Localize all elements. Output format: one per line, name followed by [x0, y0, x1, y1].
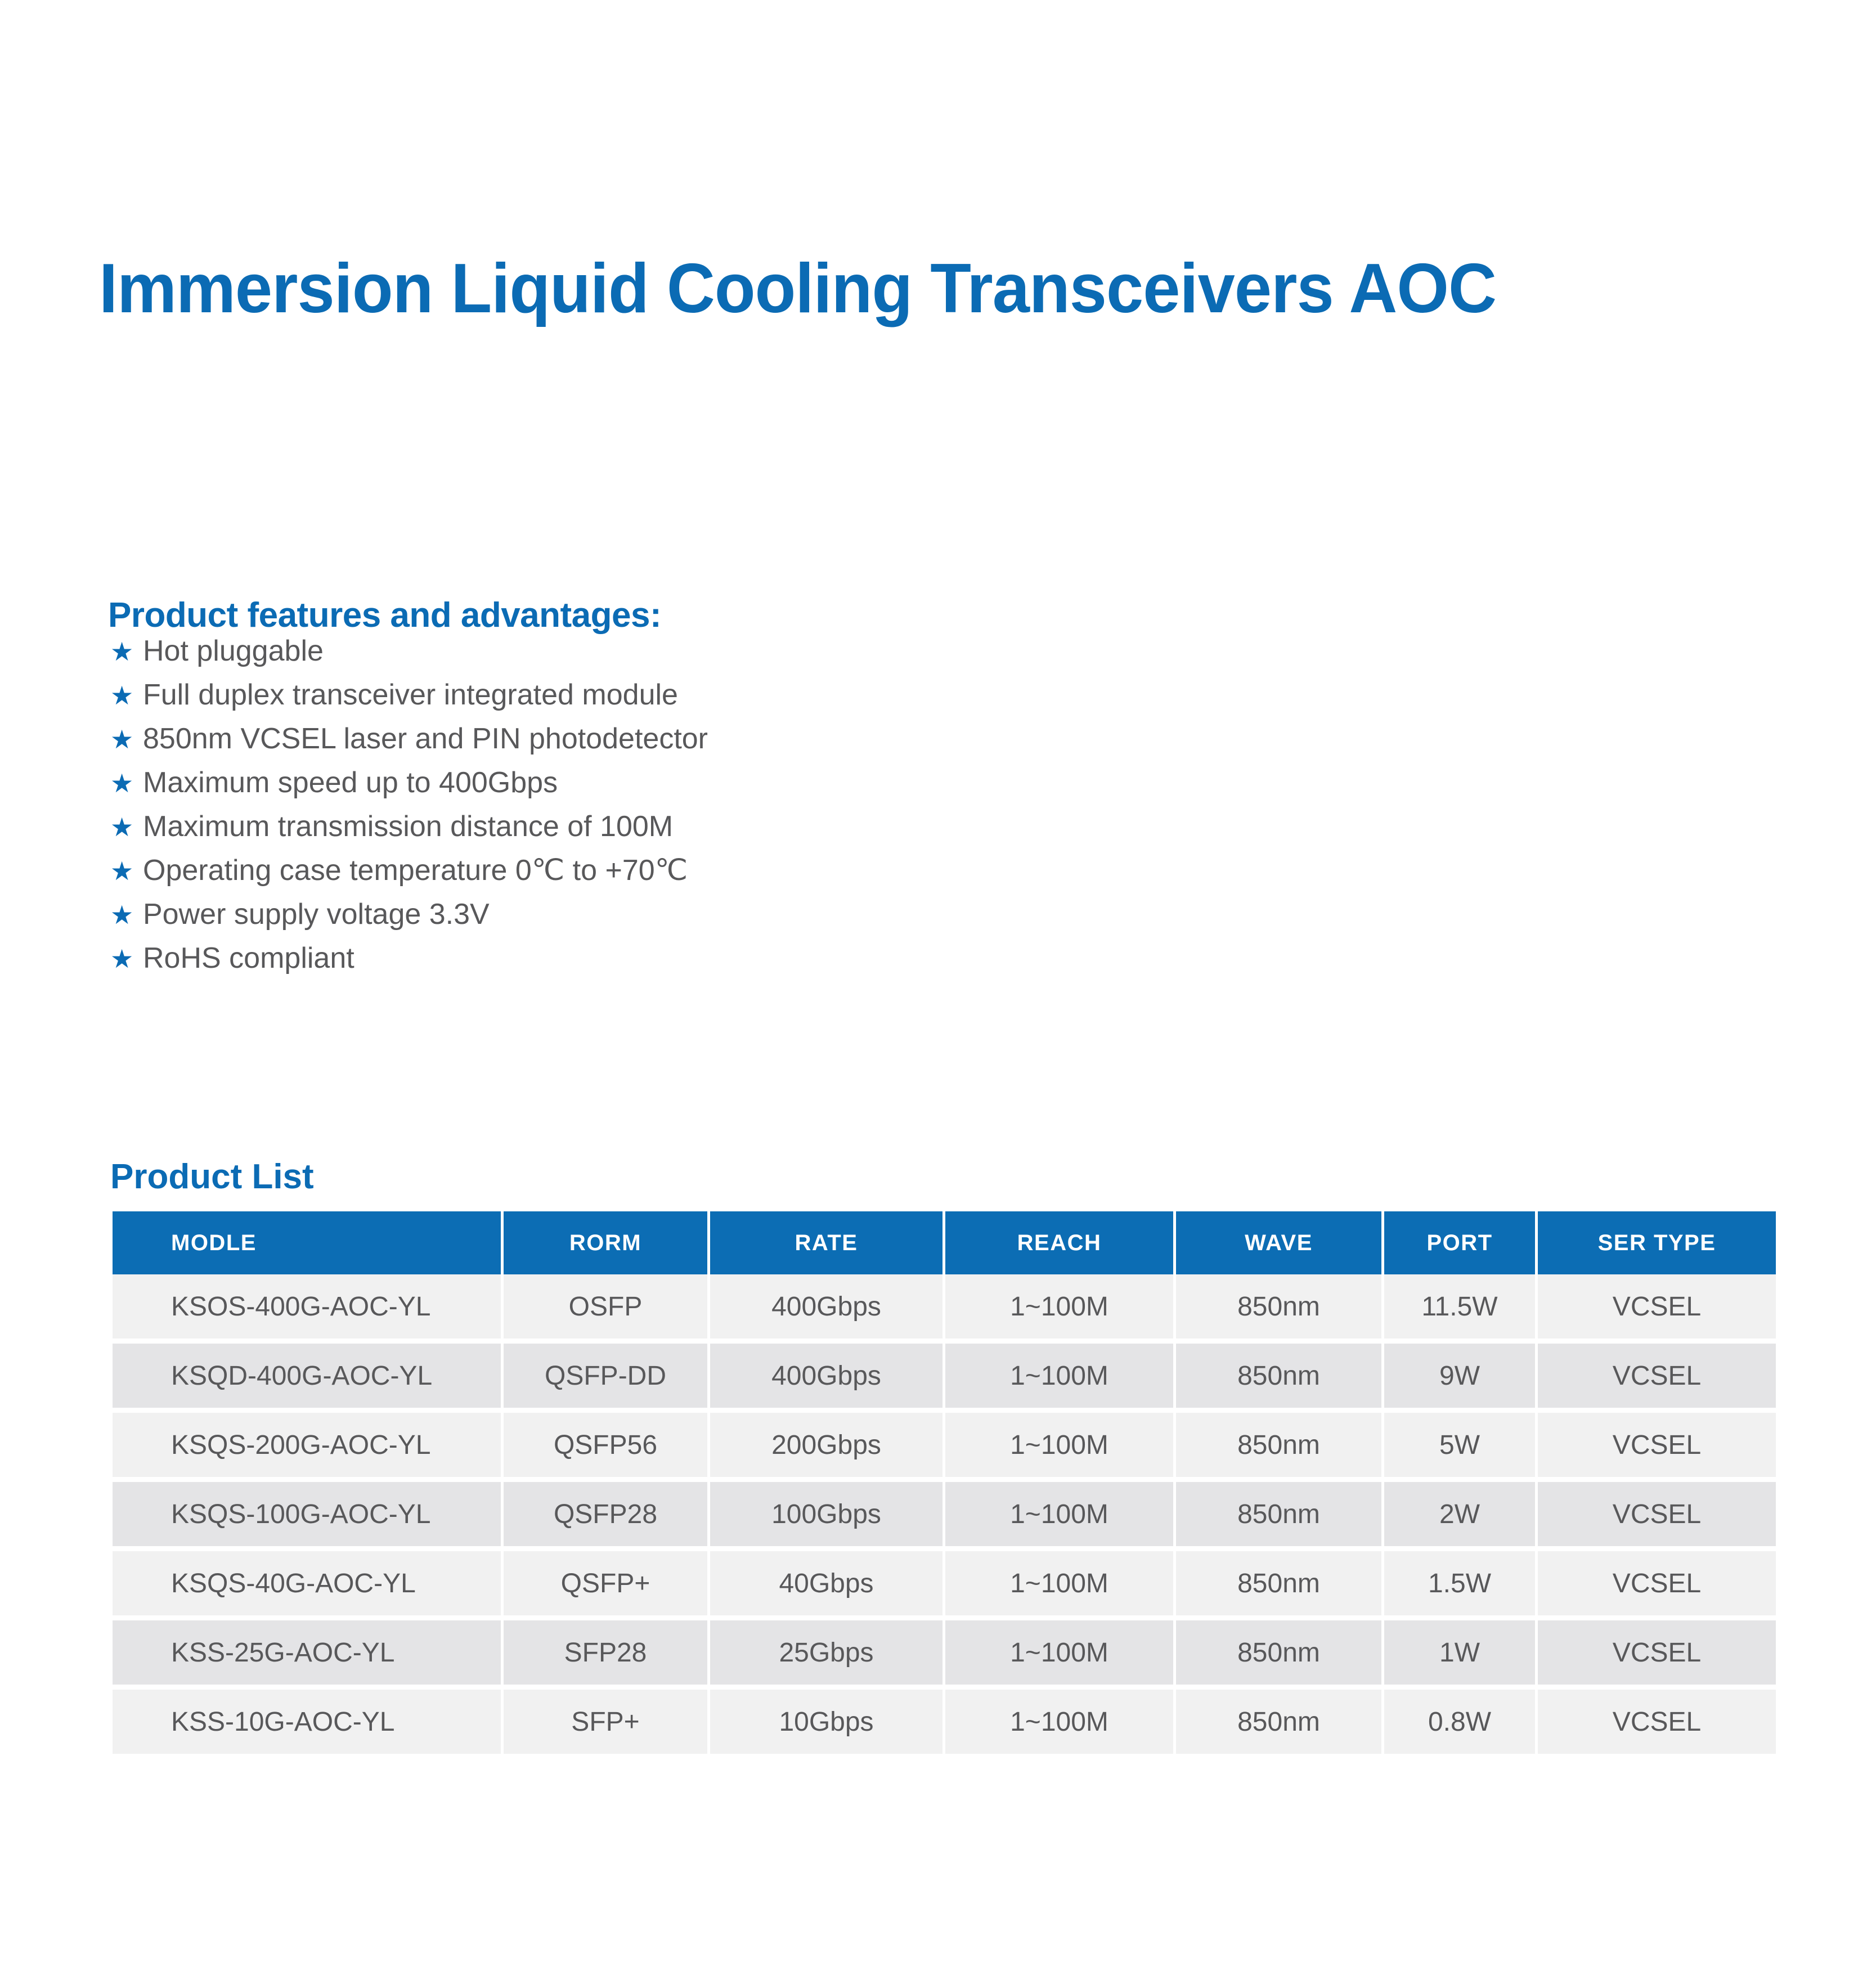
- cell-reach: 1~100M: [945, 1551, 1176, 1620]
- table-header-row: MODLE RORM RATE REACH WAVE PORT SER TYPE: [113, 1211, 1776, 1274]
- table-row: KSQD-400G-AOC-YLQSFP-DD400Gbps1~100M850n…: [113, 1344, 1776, 1413]
- page-root: Immersion Liquid Cooling Transceivers AO…: [0, 0, 1876, 1967]
- cell-reach: 1~100M: [945, 1274, 1176, 1344]
- cell-rate: 10Gbps: [710, 1690, 945, 1754]
- cell-rorm: SFP28: [504, 1620, 710, 1690]
- cell-reach: 1~100M: [945, 1344, 1176, 1413]
- feature-item: ★Maximum speed up to 400Gbps: [110, 761, 1348, 805]
- cell-rorm: OSFP: [504, 1274, 710, 1344]
- cell-wave: 850nm: [1176, 1482, 1384, 1551]
- star-icon: ★: [110, 937, 143, 981]
- star-icon: ★: [110, 717, 143, 761]
- cell-wave: 850nm: [1176, 1274, 1384, 1344]
- cell-wave: 850nm: [1176, 1551, 1384, 1620]
- star-icon: ★: [110, 849, 143, 893]
- cell-port: 9W: [1384, 1344, 1538, 1413]
- feature-item-label: Full duplex transceiver integrated modul…: [143, 673, 678, 717]
- cell-port: 2W: [1384, 1482, 1538, 1551]
- feature-item-label: Hot pluggable: [143, 629, 324, 673]
- table-row: KSS-25G-AOC-YLSFP2825Gbps1~100M850nm1WVC…: [113, 1620, 1776, 1690]
- cell-rorm: QSFP56: [504, 1413, 710, 1482]
- cell-modle: KSQS-40G-AOC-YL: [113, 1551, 504, 1620]
- cell-reach: 1~100M: [945, 1690, 1176, 1754]
- star-icon: ★: [110, 630, 143, 673]
- cell-modle: KSQD-400G-AOC-YL: [113, 1344, 504, 1413]
- feature-item-label: Operating case temperature 0℃ to +70℃: [143, 848, 688, 892]
- star-icon: ★: [110, 673, 143, 717]
- cell-port: 1.5W: [1384, 1551, 1538, 1620]
- cell-ser-type: VCSEL: [1538, 1344, 1776, 1413]
- cell-ser-type: VCSEL: [1538, 1551, 1776, 1620]
- cell-ser-type: VCSEL: [1538, 1482, 1776, 1551]
- feature-item: ★850nm VCSEL laser and PIN photodetector: [110, 717, 1348, 761]
- cell-modle: KSQS-200G-AOC-YL: [113, 1413, 504, 1482]
- features-list: ★Hot pluggable★Full duplex transceiver i…: [110, 629, 1348, 980]
- cell-port: 11.5W: [1384, 1274, 1538, 1344]
- column-header-port: PORT: [1384, 1211, 1538, 1274]
- cell-modle: KSS-10G-AOC-YL: [113, 1690, 504, 1754]
- cell-port: 1W: [1384, 1620, 1538, 1690]
- table-row: KSQS-200G-AOC-YLQSFP56200Gbps1~100M850nm…: [113, 1413, 1776, 1482]
- cell-rate: 400Gbps: [710, 1274, 945, 1344]
- table-row: KSS-10G-AOC-YLSFP+10Gbps1~100M850nm0.8WV…: [113, 1690, 1776, 1754]
- product-table: MODLE RORM RATE REACH WAVE PORT SER TYPE…: [113, 1211, 1776, 1754]
- column-header-rorm: RORM: [504, 1211, 710, 1274]
- cell-rorm: QSFP+: [504, 1551, 710, 1620]
- table-row: KSQS-100G-AOC-YLQSFP28100Gbps1~100M850nm…: [113, 1482, 1776, 1551]
- column-header-modle: MODLE: [113, 1211, 504, 1274]
- cell-ser-type: VCSEL: [1538, 1690, 1776, 1754]
- star-icon: ★: [110, 893, 143, 937]
- feature-item-label: Power supply voltage 3.3V: [143, 892, 490, 936]
- feature-item: ★Power supply voltage 3.3V: [110, 892, 1348, 936]
- star-icon: ★: [110, 805, 143, 849]
- cell-rate: 40Gbps: [710, 1551, 945, 1620]
- product-table-head: MODLE RORM RATE REACH WAVE PORT SER TYPE: [113, 1211, 1776, 1274]
- cell-wave: 850nm: [1176, 1344, 1384, 1413]
- feature-item-label: RoHS compliant: [143, 936, 354, 980]
- column-header-wave: WAVE: [1176, 1211, 1384, 1274]
- cell-wave: 850nm: [1176, 1413, 1384, 1482]
- cell-port: 0.8W: [1384, 1690, 1538, 1754]
- cell-port: 5W: [1384, 1413, 1538, 1482]
- table-row: KSQS-40G-AOC-YLQSFP+40Gbps1~100M850nm1.5…: [113, 1551, 1776, 1620]
- cell-ser-type: VCSEL: [1538, 1620, 1776, 1690]
- feature-item: ★Full duplex transceiver integrated modu…: [110, 673, 1348, 717]
- feature-item-label: Maximum speed up to 400Gbps: [143, 761, 558, 805]
- cell-rate: 100Gbps: [710, 1482, 945, 1551]
- cell-rate: 200Gbps: [710, 1413, 945, 1482]
- cell-ser-type: VCSEL: [1538, 1413, 1776, 1482]
- cell-modle: KSOS-400G-AOC-YL: [113, 1274, 504, 1344]
- column-header-ser-type: SER TYPE: [1538, 1211, 1776, 1274]
- table-row: KSOS-400G-AOC-YLOSFP400Gbps1~100M850nm11…: [113, 1274, 1776, 1344]
- page-title: Immersion Liquid Cooling Transceivers AO…: [99, 254, 1720, 324]
- cell-ser-type: VCSEL: [1538, 1274, 1776, 1344]
- cell-rate: 400Gbps: [710, 1344, 945, 1413]
- cell-reach: 1~100M: [945, 1482, 1176, 1551]
- feature-item-label: Maximum transmission distance of 100M: [143, 805, 673, 848]
- cell-reach: 1~100M: [945, 1413, 1176, 1482]
- product-table-wrapper: MODLE RORM RATE REACH WAVE PORT SER TYPE…: [113, 1211, 1776, 1754]
- cell-rorm: QSFP28: [504, 1482, 710, 1551]
- product-table-body: KSOS-400G-AOC-YLOSFP400Gbps1~100M850nm11…: [113, 1274, 1776, 1754]
- cell-wave: 850nm: [1176, 1620, 1384, 1690]
- cell-wave: 850nm: [1176, 1690, 1384, 1754]
- cell-rorm: SFP+: [504, 1690, 710, 1754]
- cell-modle: KSQS-100G-AOC-YL: [113, 1482, 504, 1551]
- product-list-heading: Product List: [110, 1160, 314, 1194]
- column-header-reach: REACH: [945, 1211, 1176, 1274]
- cell-rate: 25Gbps: [710, 1620, 945, 1690]
- column-header-rate: RATE: [710, 1211, 945, 1274]
- cell-modle: KSS-25G-AOC-YL: [113, 1620, 504, 1690]
- feature-item: ★RoHS compliant: [110, 936, 1348, 980]
- star-icon: ★: [110, 761, 143, 805]
- features-heading: Product features and advantages:: [108, 598, 661, 633]
- feature-item-label: 850nm VCSEL laser and PIN photodetector: [143, 717, 708, 761]
- cell-reach: 1~100M: [945, 1620, 1176, 1690]
- feature-item: ★Hot pluggable: [110, 629, 1348, 673]
- feature-item: ★Maximum transmission distance of 100M: [110, 805, 1348, 848]
- feature-item: ★Operating case temperature 0℃ to +70℃: [110, 848, 1348, 892]
- cell-rorm: QSFP-DD: [504, 1344, 710, 1413]
